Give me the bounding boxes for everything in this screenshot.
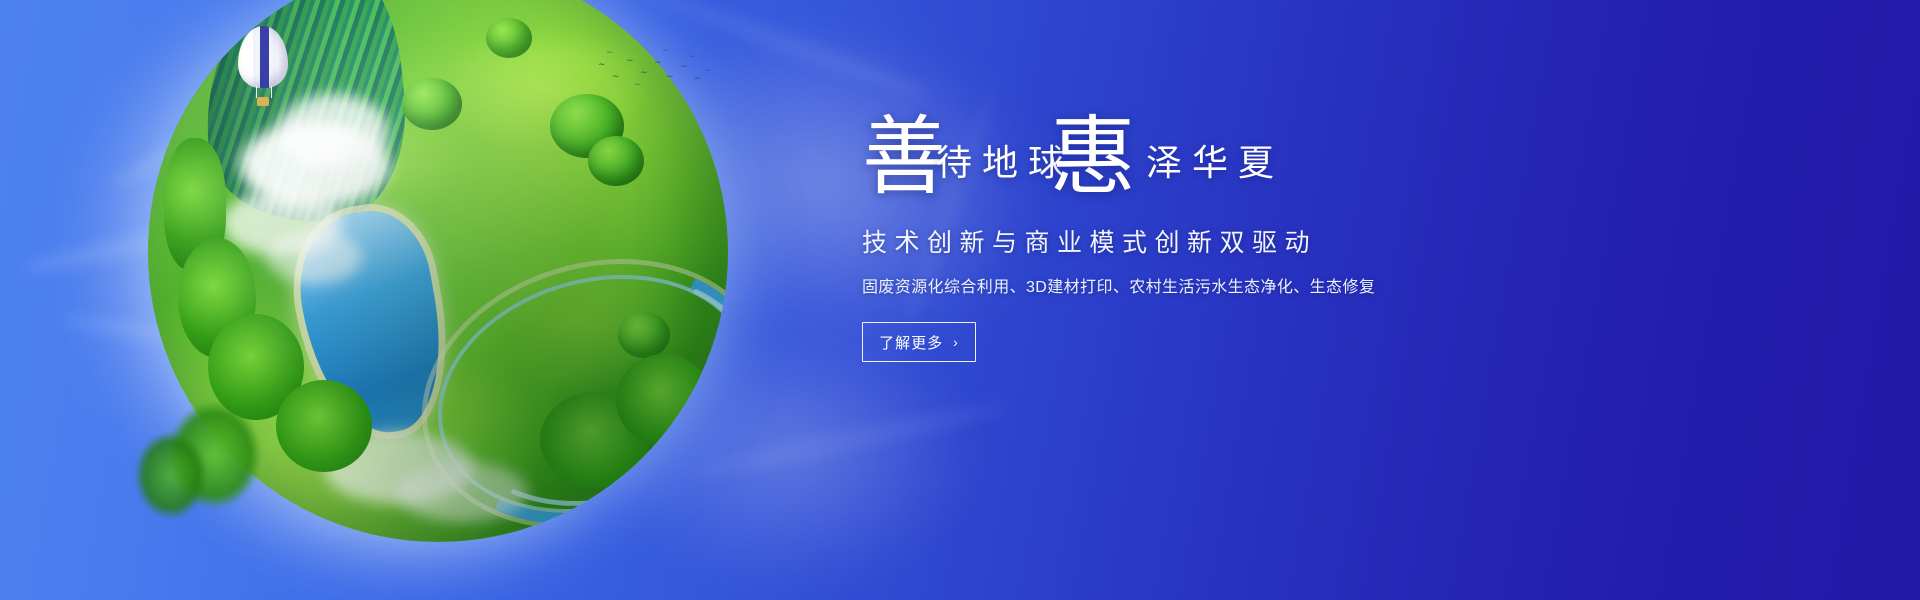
learn-more-label: 了解更多: [879, 332, 943, 353]
hero-banner: ∼ ∼ ∼ ∼ ∼ ∼ ∼ ∼ ∼ ∼ ∼ ∼ ∼ 善 待地球 惠 泽华夏 技术…: [0, 0, 1920, 600]
chevron-right-icon: ›: [953, 334, 959, 350]
headline-large-char-2: 惠: [1050, 114, 1136, 200]
balloon-basket: [257, 97, 269, 106]
hero-description: 固废资源化综合利用、3D建材打印、农村生活污水生态净化、生态修复: [862, 276, 1562, 300]
learn-more-button[interactable]: 了解更多 ›: [862, 322, 976, 362]
balloon-envelope: [238, 26, 288, 88]
hero-subtitle: 技术创新与商业模式创新双驱动: [862, 226, 1562, 260]
hero-copy: 善 待地球 惠 泽华夏 技术创新与商业模式创新双驱动 固废资源化综合利用、3D建…: [862, 120, 1562, 362]
page-title: 善 待地球 惠 泽华夏: [862, 120, 1562, 212]
foreground-tree: [126, 420, 216, 540]
hot-air-balloon: [238, 26, 288, 112]
headline-small-chars-2: 泽华夏: [1146, 144, 1284, 184]
